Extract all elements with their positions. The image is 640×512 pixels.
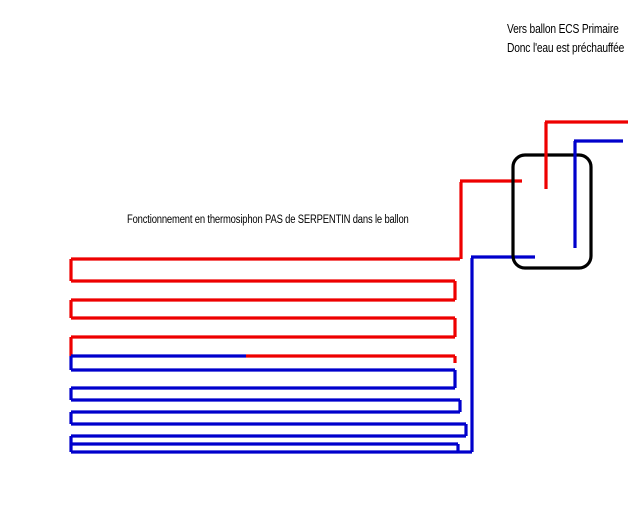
diagram-canvas: Vers ballon ECS Primaire Donc l'eau est …	[0, 0, 640, 512]
annotation-top-right-line2: Donc l'eau est préchauffée	[507, 40, 624, 56]
thermosiphon-schematic	[0, 0, 640, 512]
tank-body	[513, 155, 591, 268]
annotation-center: Fonctionnement en thermosiphon PAS de SE…	[127, 213, 409, 228]
annotation-center-line1: Fonctionnement en thermosiphon PAS de SE…	[127, 213, 409, 228]
annotation-top-right: Vers ballon ECS Primaire Donc l'eau est …	[507, 21, 624, 59]
storage-tank	[513, 155, 591, 268]
tank-cold-outlet	[574, 141, 623, 248]
collector-hot-serpentine	[71, 181, 522, 363]
annotation-top-right-line1: Vers ballon ECS Primaire	[507, 21, 624, 37]
